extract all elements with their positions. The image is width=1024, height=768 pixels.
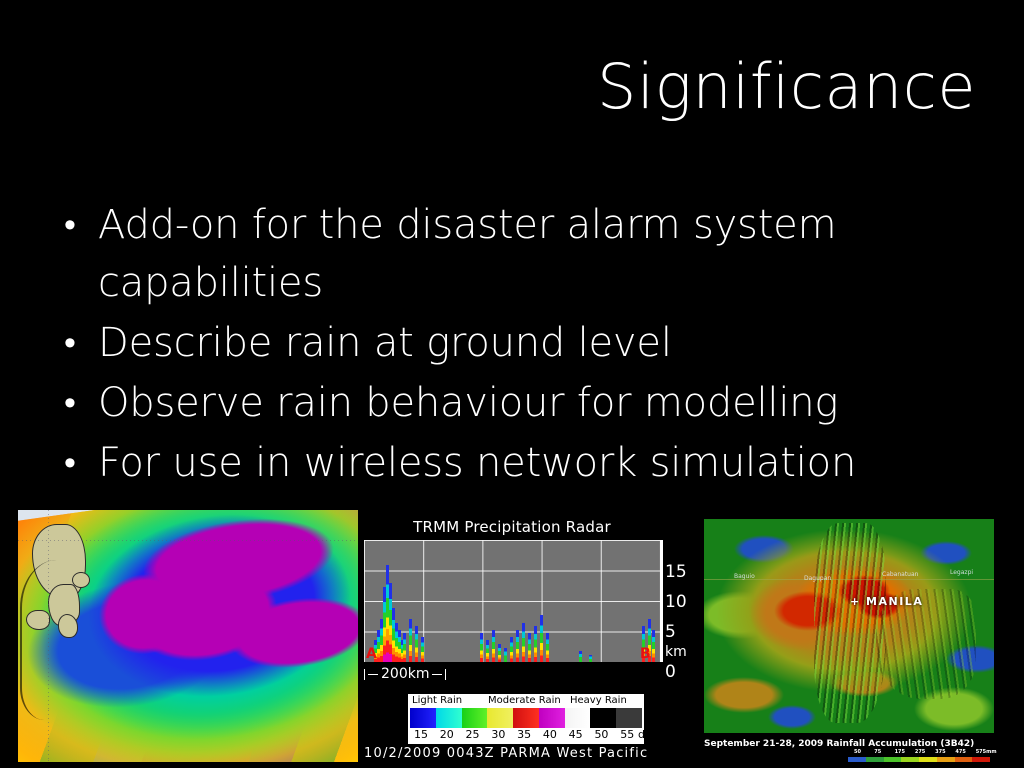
rain-swatch-7	[955, 757, 973, 762]
legend-color-bar	[410, 708, 642, 728]
legend-swatch-25	[462, 708, 488, 728]
bullet-point-icon: •	[60, 374, 98, 432]
legend-tick-25: 25	[466, 728, 480, 741]
radar-echo-column	[516, 630, 519, 662]
rain-tick-0: 50	[854, 749, 861, 755]
legend-tick-30: 30	[491, 728, 505, 741]
legend-tick-40: 40	[543, 728, 557, 741]
legend-tick-55: 55	[620, 728, 634, 741]
rain-tick-1: 75	[874, 749, 881, 755]
rain-swatch-8	[972, 757, 990, 762]
legend-swatch-40	[539, 708, 565, 728]
radar-echo-column	[579, 651, 582, 662]
bullet-text: Observe rain behaviour for modelling	[98, 374, 838, 432]
rain-swatch-5	[919, 757, 937, 762]
radar-echo-column	[540, 615, 543, 662]
legend-unit-label: dBZ	[638, 728, 660, 741]
radar-echo-column	[486, 640, 489, 662]
legend-tick-35: 35	[517, 728, 531, 741]
terrain-relief-west	[814, 523, 886, 723]
list-item: • Describe rain at ground level	[60, 314, 960, 372]
legend-swatch-45	[565, 708, 591, 728]
radar-echo-column	[534, 626, 537, 662]
radar-echo-column	[409, 619, 412, 662]
rainfall-contour-field	[704, 519, 994, 733]
radar-echo-column	[403, 633, 406, 662]
presentation-slide: Significance • Add-on for the disaster a…	[0, 0, 1024, 768]
legend-swatch-55	[616, 708, 642, 728]
bullet-point-icon: •	[60, 434, 98, 492]
list-item: • Add-on for the disaster alarm system c…	[60, 196, 960, 312]
lat-lon-grid	[18, 510, 358, 762]
legend-heavy-rain: Heavy Rain	[570, 695, 627, 706]
rain-tick-5: 475	[955, 749, 965, 755]
bullet-text: Add-on for the disaster alarm system cap…	[98, 196, 918, 312]
manila-city-label: + MANILA	[850, 595, 923, 608]
radar-plot-area	[364, 540, 663, 662]
rain-swatch-1	[848, 757, 866, 762]
legend-tick-labels: 152025303540455055dBZ	[410, 728, 642, 742]
legend-tick-50: 50	[594, 728, 608, 741]
rain-tick-6: 575mm	[976, 749, 997, 755]
legend-swatch-15	[410, 708, 436, 728]
scale-tick-left	[364, 669, 365, 680]
scale-line-left	[368, 674, 378, 675]
y-axis-unit: km	[665, 644, 687, 660]
rain-swatch-4	[901, 757, 919, 762]
y-tick-5: 5	[665, 622, 676, 642]
legend-light-rain: Light Rain	[412, 695, 462, 706]
rain-tick-4: 375	[935, 749, 945, 755]
rain-swatch-3	[884, 757, 902, 762]
legend-tick-45: 45	[569, 728, 583, 741]
radar-chart-title: TRMM Precipitation Radar	[362, 518, 662, 536]
radar-echo-column	[589, 655, 592, 662]
typhoon-satellite-image	[18, 510, 358, 762]
legend-moderate-rain: Moderate Rain	[488, 695, 561, 706]
cross-section-marker-a: A	[366, 646, 377, 662]
rain-swatch-6	[937, 757, 955, 762]
rainmap-caption: September 21-28, 2009 Rainfall Accumulat…	[704, 739, 974, 749]
y-tick-15: 15	[665, 562, 687, 582]
radar-echo-column	[510, 637, 513, 662]
radar-echo-column	[528, 633, 531, 662]
legend-tick-20: 20	[440, 728, 454, 741]
radar-y-axis: 15 10 5 km 0	[664, 540, 698, 672]
bullet-text: Describe rain at ground level	[98, 314, 672, 372]
legend-swatch-20	[436, 708, 462, 728]
bullet-point-icon: •	[60, 314, 98, 372]
trmm-precipitation-radar-figure: TRMM Precipitation Radar 15 10 5 km 0 A …	[362, 514, 700, 764]
radar-echo-column	[504, 648, 507, 662]
scale-tick-right	[445, 669, 446, 680]
radar-echo-column	[522, 623, 525, 662]
cross-section-marker-b: B	[640, 646, 651, 662]
rainfall-color-scale: 5075175275375475575mm	[848, 749, 990, 762]
radar-echo-column	[498, 644, 501, 662]
rainfall-scale-bar	[848, 757, 990, 762]
scale-line-right	[432, 674, 442, 675]
rain-swatch-2	[866, 757, 884, 762]
bullet-point-icon: •	[60, 196, 98, 254]
legend-tick-15: 15	[414, 728, 428, 741]
scale-bar-label: 200km	[381, 666, 429, 682]
list-item: • For use in wireless network simulation	[60, 434, 960, 492]
radar-echo-column	[492, 630, 495, 662]
dbz-legend: Light Rain Moderate Rain Heavy Rain 1520…	[408, 694, 644, 744]
radar-echo-column	[546, 633, 549, 662]
geo-pin-2: Dagupan	[804, 575, 831, 582]
legend-category-labels: Light Rain Moderate Rain Heavy Rain	[410, 695, 642, 708]
rain-tick-2: 175	[895, 749, 905, 755]
geo-pin-3: Cabanatuan	[882, 571, 918, 578]
trmm-rainfall-accumulation-map: Baguio Dagupan Cabanatuan Legazpi + MANI…	[700, 511, 998, 762]
bullet-list: • Add-on for the disaster alarm system c…	[60, 196, 960, 494]
legend-swatch-50	[590, 708, 616, 728]
rainfall-scale-ticks: 5075175275375475575mm	[848, 749, 990, 757]
distance-scale-bar: 200km	[364, 666, 446, 682]
y-tick-10: 10	[665, 592, 687, 612]
radar-echo-column	[421, 637, 424, 662]
radar-echo-column	[415, 626, 418, 662]
geo-pin-4: Legazpi	[950, 569, 973, 576]
geo-pin-1: Baguio	[734, 573, 755, 580]
legend-swatch-35	[513, 708, 539, 728]
list-item: • Observe rain behaviour for modelling	[60, 374, 960, 432]
bullet-text: For use in wireless network simulation	[98, 434, 856, 492]
radar-echo-column	[480, 633, 483, 662]
radar-figure-caption: 10/2/2009 0043Z PARMA West Pacific	[364, 746, 648, 761]
rain-tick-3: 275	[915, 749, 925, 755]
page-title: Significance	[76, 52, 976, 122]
y-tick-0: 0	[665, 662, 676, 682]
legend-swatch-30	[487, 708, 513, 728]
radar-echo-column	[652, 630, 655, 662]
